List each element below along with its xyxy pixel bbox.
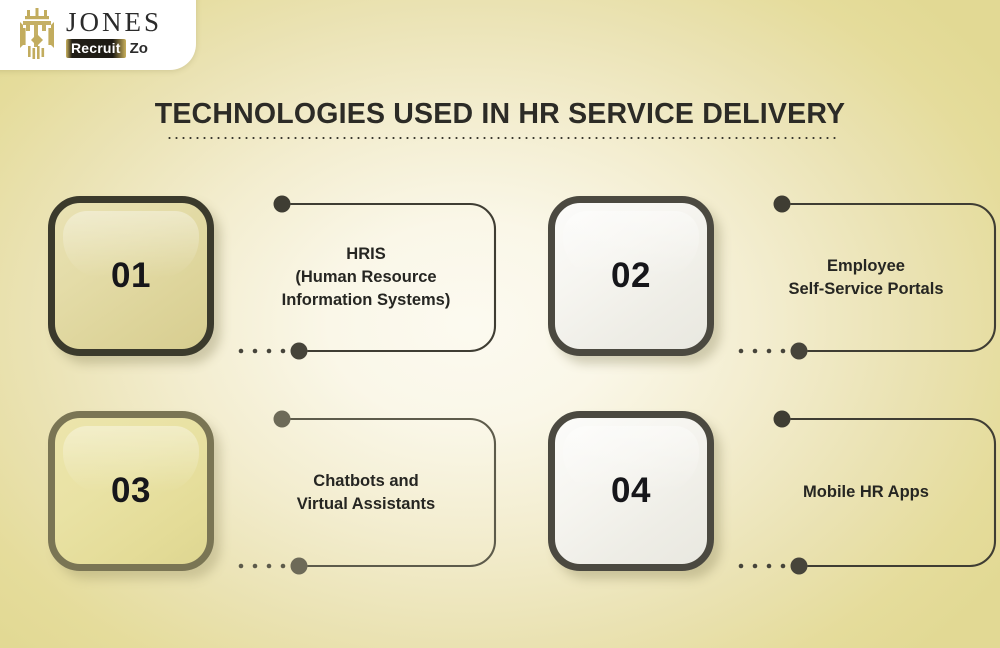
item-caption: Chatbots and Virtual Assistants [240,405,492,580]
item-caption-text: Employee Self-Service Portals [789,255,944,301]
brand-wordmark: JONES Recruit Zo [66,9,162,60]
brand-suffix: Zo [130,41,148,56]
number-label: 04 [611,471,651,511]
number-label: 03 [111,471,151,511]
title-dotted-divider [166,136,840,140]
number-badge-02: 02 [548,196,714,356]
brand-name: JONES [66,9,162,36]
brand-badge: Recruit [66,39,126,58]
brand-logo: JONES Recruit Zo [0,0,196,70]
infographic-canvas: JONES Recruit Zo TECHNOLOGIES USED IN HR… [0,0,1000,648]
item-caption: HRIS (Human Resource Information Systems… [240,190,492,365]
brand-subline: Recruit Zo [66,39,162,58]
number-badge-04: 04 [548,411,714,571]
list-item: 04 Mobile HR Apps [540,405,1000,595]
item-caption: Mobile HR Apps [740,405,992,580]
item-caption-text: Chatbots and Virtual Assistants [297,470,435,516]
list-item: 03 Chatbots and Virtual Assistants [40,405,500,595]
item-caption: Employee Self-Service Portals [740,190,992,365]
list-item: 01 HRIS (Human Resource Information Syst… [40,190,500,380]
number-badge-03: 03 [48,411,214,571]
crest-emblem-icon [16,8,58,60]
list-item: 02 Employee Self-Service Portals [540,190,1000,380]
number-label: 01 [111,256,151,296]
number-badge-01: 01 [48,196,214,356]
item-caption-text: HRIS (Human Resource Information Systems… [282,243,451,311]
page-title-wrap: TECHNOLOGIES USED IN HR SERVICE DELIVERY [0,98,1000,131]
number-label: 02 [611,256,651,296]
page-title: TECHNOLOGIES USED IN HR SERVICE DELIVERY [0,98,1000,131]
item-caption-text: Mobile HR Apps [803,481,929,504]
